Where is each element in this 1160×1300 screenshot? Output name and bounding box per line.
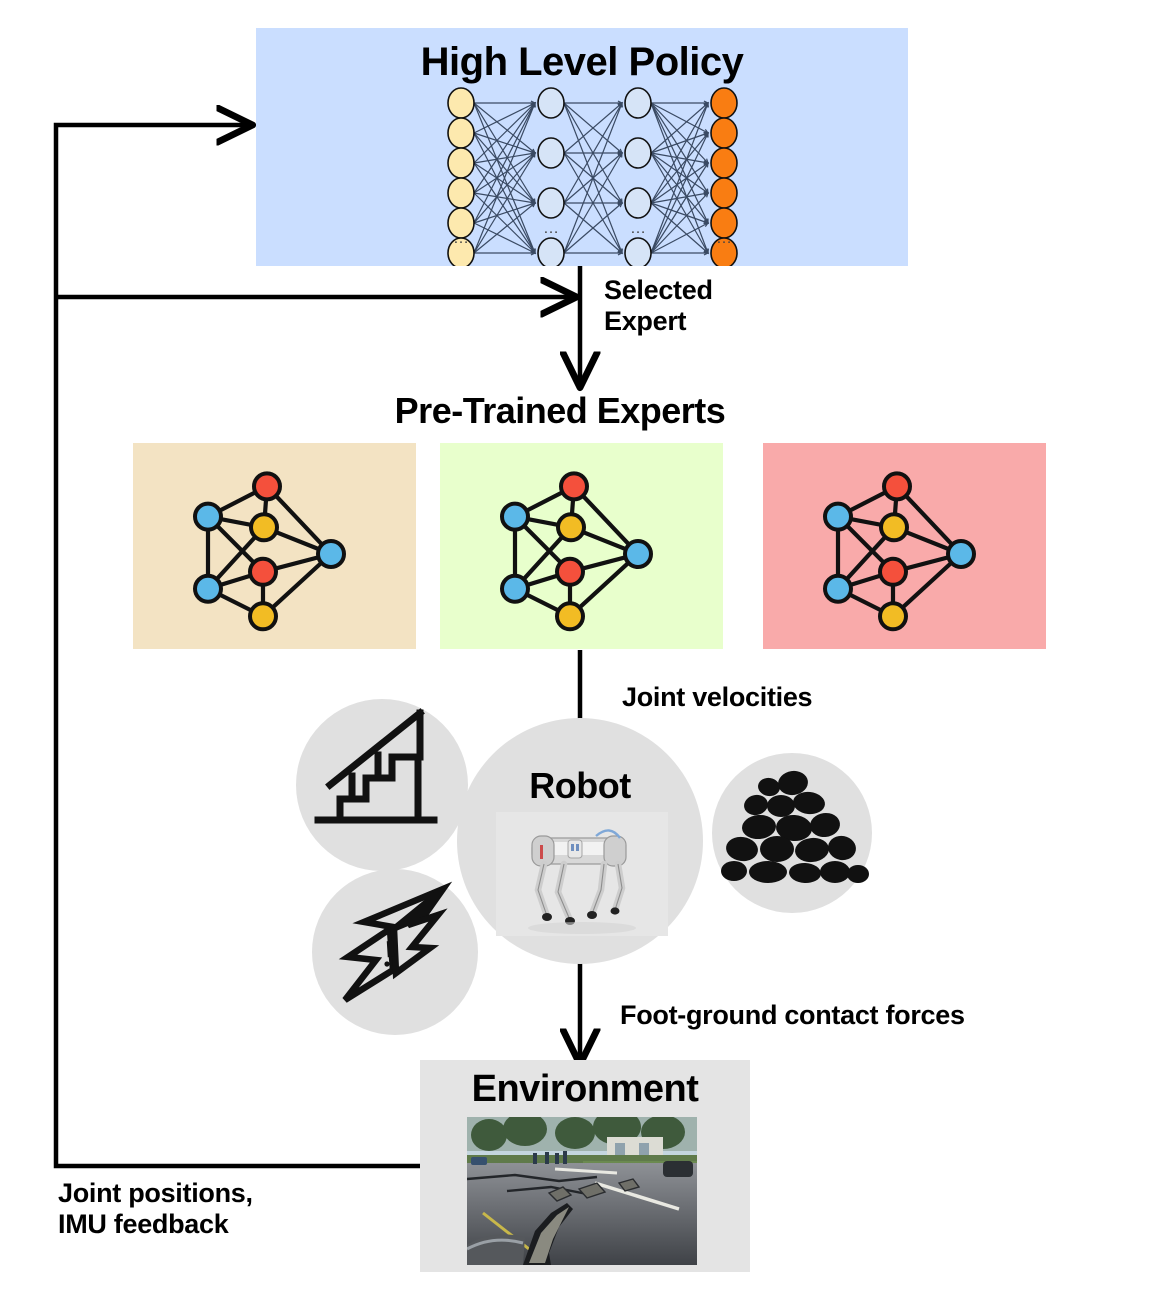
policy-neural-network: ………… bbox=[256, 28, 908, 266]
lightning-bolt-icon bbox=[312, 869, 478, 1035]
rock-pile-icon bbox=[712, 753, 872, 913]
quadruped-robot-image bbox=[496, 812, 668, 936]
expert-graph-node bbox=[250, 559, 276, 585]
expert-graph-node bbox=[251, 514, 277, 540]
input-layer-node bbox=[448, 88, 474, 118]
robot-label: Robot bbox=[457, 765, 703, 807]
expert-card-1[interactable] bbox=[133, 443, 416, 649]
hidden-layer-1-node bbox=[538, 188, 564, 218]
label-joint-positions-imu-feedback: Joint positions, IMU feedback bbox=[58, 1178, 253, 1240]
expert-graph-node bbox=[948, 541, 974, 567]
cracked-road-photo bbox=[467, 1117, 697, 1265]
diagram-canvas: High Level Policy ………… Pre-Trained Exper… bbox=[0, 0, 1160, 1300]
expert-locomotion-1-graph bbox=[133, 443, 416, 649]
terrain-circle-lightning bbox=[312, 869, 478, 1035]
output-layer-node bbox=[711, 88, 737, 118]
input-layer-node bbox=[448, 118, 474, 148]
hidden-layer-2-node bbox=[625, 238, 651, 266]
terrain-circle-stairs bbox=[296, 699, 468, 871]
expert-graph-node bbox=[825, 504, 851, 530]
expert-graph-node bbox=[318, 541, 344, 567]
expert-card-2[interactable] bbox=[440, 443, 723, 649]
label-contact-forces: Foot-ground contact forces bbox=[620, 1000, 965, 1031]
input-layer-node bbox=[448, 148, 474, 178]
expert-graph-node bbox=[557, 603, 583, 629]
hidden-layer-2-node bbox=[625, 138, 651, 168]
expert-graph-node bbox=[557, 559, 583, 585]
hidden-layer-1-ellipsis: … bbox=[543, 220, 559, 237]
expert-locomotion-3-graph bbox=[763, 443, 1046, 649]
expert-graph-node bbox=[881, 514, 907, 540]
expert-graph-node bbox=[502, 576, 528, 602]
input-layer-node bbox=[448, 178, 474, 208]
label-selected-expert: Selected Expert bbox=[604, 275, 713, 337]
hidden-layer-2-node bbox=[625, 88, 651, 118]
environment-title: Environment bbox=[420, 1068, 750, 1111]
expert-graph-node bbox=[195, 576, 221, 602]
expert-graph-node bbox=[502, 504, 528, 530]
hidden-layer-2-node bbox=[625, 188, 651, 218]
expert-graph-node bbox=[561, 473, 587, 499]
hidden-layer-2-ellipsis: … bbox=[630, 220, 646, 237]
hidden-layer-1-node bbox=[538, 88, 564, 118]
expert-graph-node bbox=[195, 504, 221, 530]
expert-graph-node bbox=[625, 541, 651, 567]
expert-graph-node bbox=[880, 603, 906, 629]
hidden-layer-1-node bbox=[538, 238, 564, 266]
label-joint-velocities: Joint velocities bbox=[622, 682, 812, 713]
expert-graph-node bbox=[884, 473, 910, 499]
output-layer-node bbox=[711, 178, 737, 208]
output-layer-node bbox=[711, 118, 737, 148]
stairs-icon bbox=[296, 699, 468, 871]
expert-graph-node bbox=[558, 514, 584, 540]
policy-edges bbox=[474, 101, 708, 255]
terrain-circle-rocks bbox=[712, 753, 872, 913]
pre-trained-experts-title: Pre-Trained Experts bbox=[160, 390, 960, 432]
input-layer-ellipsis: … bbox=[453, 230, 469, 247]
output-layer-node bbox=[711, 148, 737, 178]
expert-card-3[interactable] bbox=[763, 443, 1046, 649]
expert-graph-node bbox=[825, 576, 851, 602]
expert-graph-node bbox=[254, 473, 280, 499]
hidden-layer-1-node bbox=[538, 138, 564, 168]
output-layer-ellipsis: … bbox=[716, 230, 732, 247]
expert-locomotion-2-graph bbox=[440, 443, 723, 649]
expert-graph-node bbox=[250, 603, 276, 629]
expert-graph-node bbox=[880, 559, 906, 585]
